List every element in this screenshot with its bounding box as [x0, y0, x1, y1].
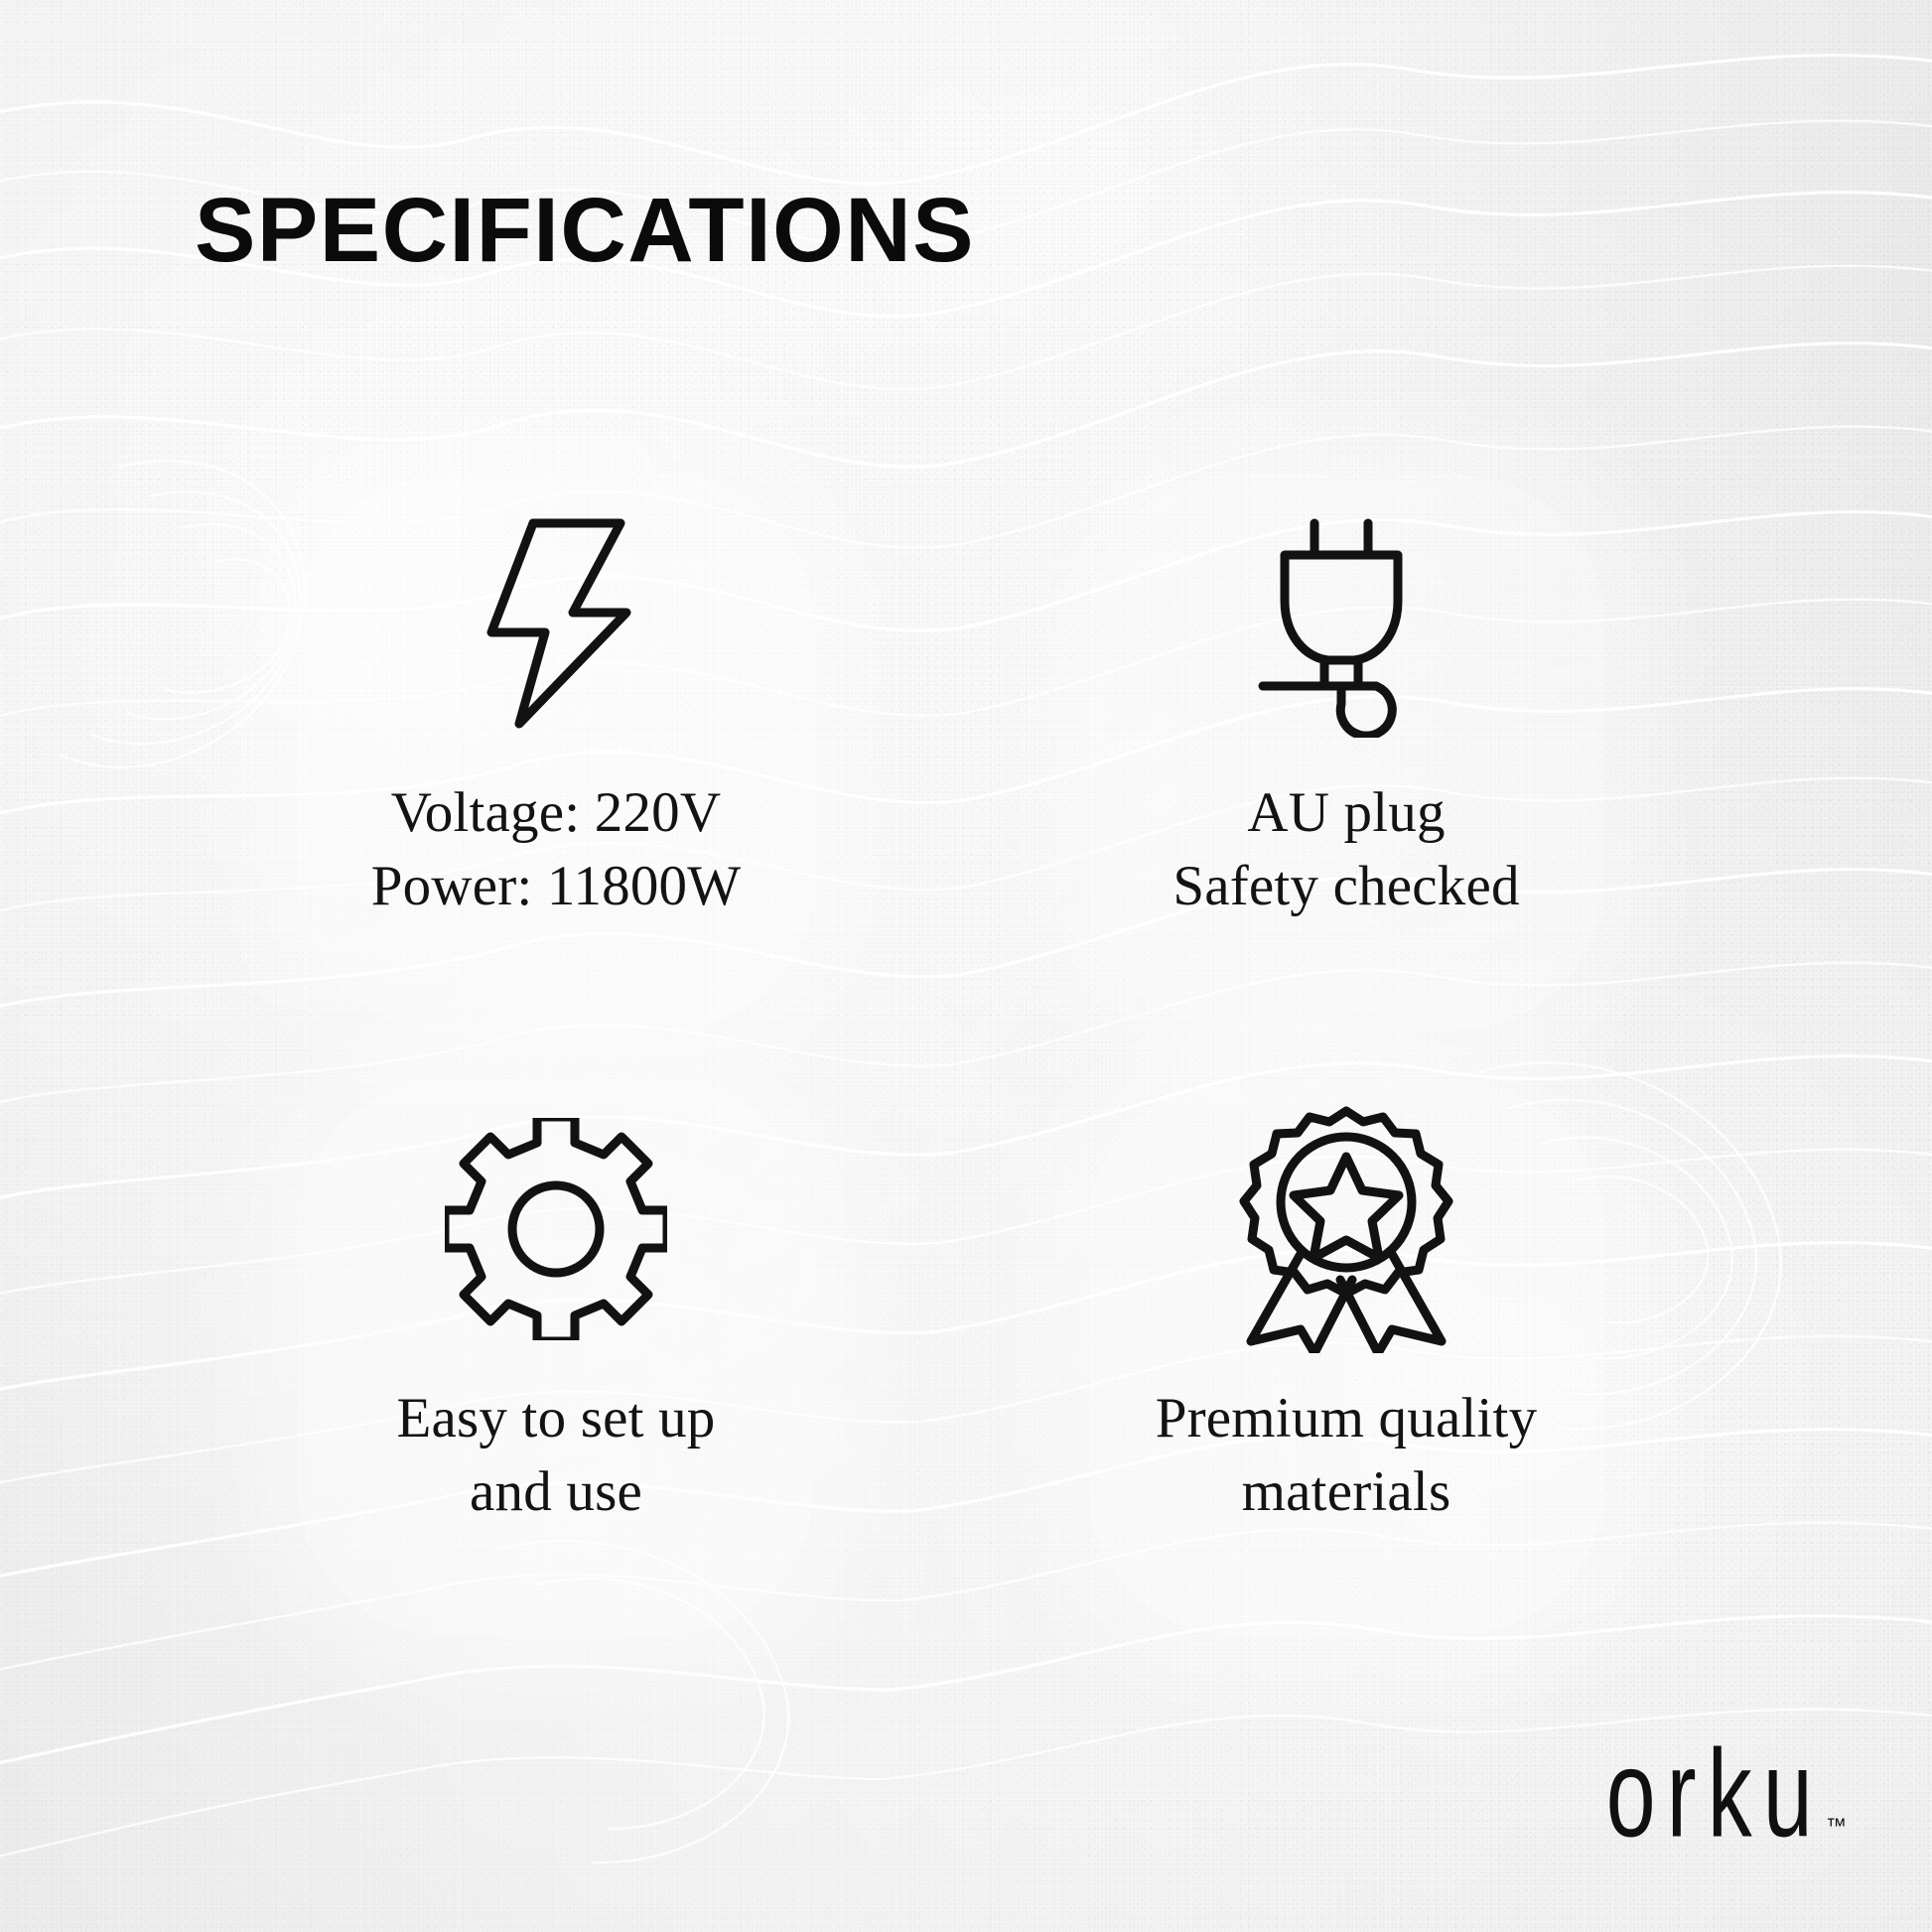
- spec-card-premium-quality[interactable]: Premium quality materials: [1088, 1080, 1604, 1636]
- spec-card-text-easy-setup: Easy to set up and use: [396, 1382, 715, 1529]
- spec-card-easy-setup[interactable]: Easy to set up and use: [298, 1080, 814, 1636]
- spec-card-au-plug-safety[interactable]: AU plug Safety checked: [1088, 475, 1604, 1031]
- trademark-symbol: ™: [1826, 1815, 1847, 1839]
- page-title: SPECIFICATIONS: [195, 185, 975, 276]
- spec-card-text-premium-quality: Premium quality materials: [1156, 1382, 1538, 1529]
- paper-grain-texture-secondary: [0, 0, 1932, 1932]
- orku-wordmark: orku: [1606, 1736, 1824, 1851]
- lightning-bolt-icon: [298, 475, 814, 772]
- specifications-poster: SPECIFICATIONS Voltage: 220V Power: 1180…: [0, 0, 1932, 1932]
- orku-logo: orku ™: [1552, 1748, 1847, 1851]
- award-badge-icon: [1088, 1080, 1604, 1378]
- spec-card-text-voltage-power: Voltage: 220V Power: 11800W: [371, 776, 742, 923]
- gear-icon: [298, 1080, 814, 1378]
- spec-card-text-au-plug-safety: AU plug Safety checked: [1173, 776, 1519, 923]
- power-plug-icon: [1088, 475, 1604, 772]
- spec-card-voltage-power[interactable]: Voltage: 220V Power: 11800W: [298, 475, 814, 1031]
